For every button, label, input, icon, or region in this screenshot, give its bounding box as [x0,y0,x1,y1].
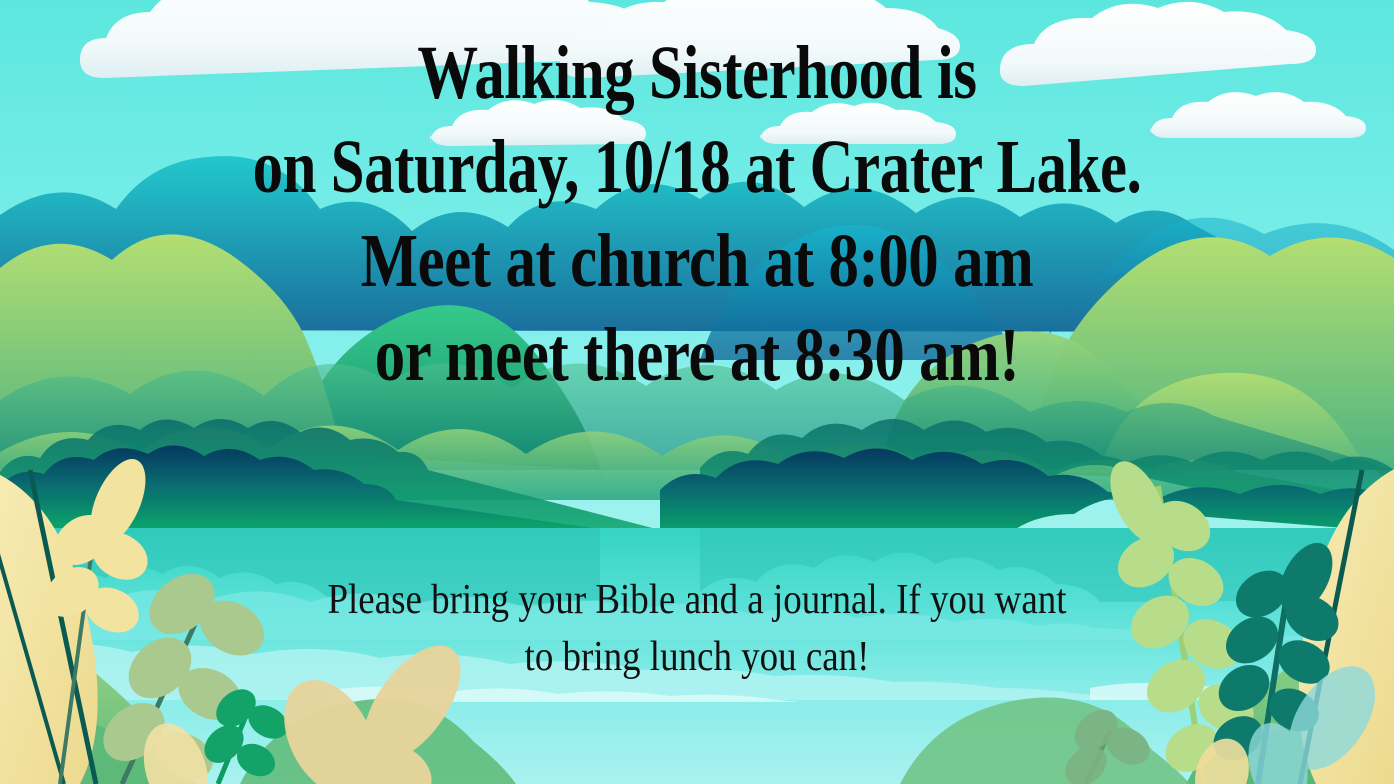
body-line-2: to bring lunch you can! [84,629,1311,686]
headline-line-4: or meet there at 8:30 am! [139,308,1254,402]
headline-line-1: Walking Sisterhood is [139,26,1254,120]
poster-canvas: Walking Sisterhood is on Saturday, 10/18… [0,0,1394,784]
headline-line-3: Meet at church at 8:00 am [139,214,1254,308]
headline-line-2: on Saturday, 10/18 at Crater Lake. [139,120,1254,214]
headline-group: Walking Sisterhood is on Saturday, 10/18… [0,26,1394,402]
body-text-group: Please bring your Bible and a journal. I… [0,572,1394,686]
text-overlay: Walking Sisterhood is on Saturday, 10/18… [0,0,1394,784]
body-line-1: Please bring your Bible and a journal. I… [84,572,1311,629]
